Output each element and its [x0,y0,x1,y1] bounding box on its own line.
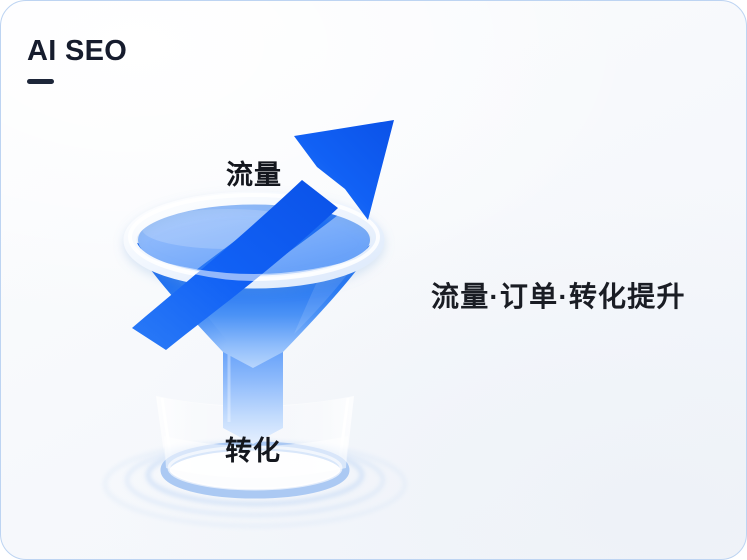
illustration-canvas: AI SEO 流量·订单·转化提升 [0,0,747,560]
tagline-text: 流量·订单·转化提升 [431,275,686,315]
page-title: AI SEO [27,37,127,66]
label-traffic: 流量 [226,153,282,192]
title-block: AI SEO [27,37,127,84]
title-underline-rule [27,79,54,84]
label-conversion: 转化 [225,429,281,468]
